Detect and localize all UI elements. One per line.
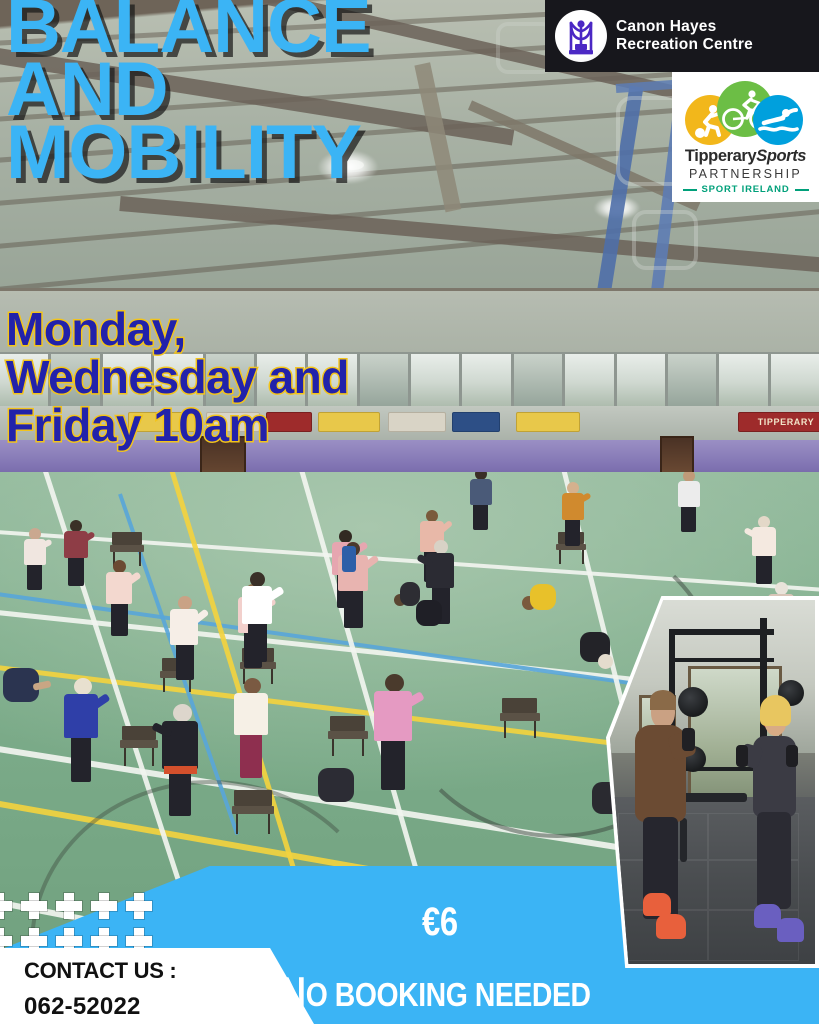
- canon-hayes-line-1: Canon Hayes: [616, 18, 753, 36]
- sponsor-board-tipperary: TIPPERARY: [738, 412, 819, 432]
- page-title: BALANCE AND MOBILITY: [6, 0, 526, 187]
- class-participant: [676, 472, 702, 532]
- schedule-line-2: Wednesday and: [6, 354, 476, 402]
- gym-person-right: [745, 702, 811, 942]
- plus-icon: [21, 893, 47, 919]
- contact-panel: CONTACT US : 062-52022: [0, 948, 314, 1024]
- class-participant: [62, 678, 102, 782]
- price-text: €6: [74, 900, 746, 945]
- class-participant: [22, 528, 48, 590]
- tsp-sports: Sports: [756, 147, 806, 165]
- canon-hayes-logo: Canon Hayes Recreation Centre: [545, 0, 819, 72]
- contact-label: CONTACT US :: [24, 958, 314, 984]
- canon-hayes-name: Canon Hayes Recreation Centre: [616, 18, 753, 55]
- tipperary-sports-partnership-logo: TipperarySports PARTNERSHIP SPORT IRELAN…: [672, 72, 819, 202]
- class-participant: [560, 482, 586, 546]
- tsp-wordmark: TipperarySports: [685, 147, 806, 166]
- title-line-3: MOBILITY: [6, 120, 526, 187]
- exercise-chair: [232, 790, 274, 834]
- class-participant: [62, 520, 90, 586]
- class-participant: [168, 596, 200, 680]
- plus-icon: [0, 893, 12, 919]
- class-participant: [240, 572, 274, 662]
- class-participant: [580, 632, 614, 674]
- poster: TIPPERARY: [0, 0, 819, 1024]
- schedule-line-3: Friday 10am: [6, 402, 476, 450]
- exercise-chair: [120, 726, 158, 766]
- trophy-figure-icon: [555, 10, 607, 62]
- contact-phone-number[interactable]: 062-52022: [24, 993, 314, 1021]
- class-participant: [104, 560, 134, 636]
- tsp-tipperary: Tipperary: [685, 147, 756, 165]
- class-participant: [520, 582, 554, 622]
- schedule-block: Monday, Wednesday and Friday 10am: [6, 306, 476, 449]
- squat-rack: [669, 629, 774, 635]
- no-booking-rest: O BOOKING NEEDED: [306, 976, 591, 1013]
- exercise-chair: [328, 716, 368, 756]
- sport-ireland-line: SPORT IRELAND: [683, 184, 809, 195]
- hall-doorway: [660, 436, 694, 476]
- class-participant: [318, 768, 358, 812]
- class-participant: [372, 674, 416, 790]
- exercise-chair: [500, 698, 540, 738]
- class-participant: [392, 582, 418, 616]
- tsp-circle-group: [685, 81, 807, 143]
- sport-ireland-text: SPORT IRELAND: [702, 184, 790, 195]
- schedule-line-1: Monday,: [6, 306, 476, 354]
- class-participant: [3, 668, 43, 712]
- canon-hayes-line-2: Recreation Centre: [616, 36, 753, 54]
- class-participant: [232, 678, 272, 778]
- class-participant: [416, 600, 444, 632]
- class-participant: [468, 472, 494, 530]
- class-participant: [160, 704, 202, 816]
- swimmer-icon: [753, 95, 803, 145]
- class-participant: [750, 516, 778, 584]
- tsp-partnership: PARTNERSHIP: [689, 167, 802, 181]
- squat-rack: [669, 658, 774, 662]
- sponsor-board: [516, 412, 580, 432]
